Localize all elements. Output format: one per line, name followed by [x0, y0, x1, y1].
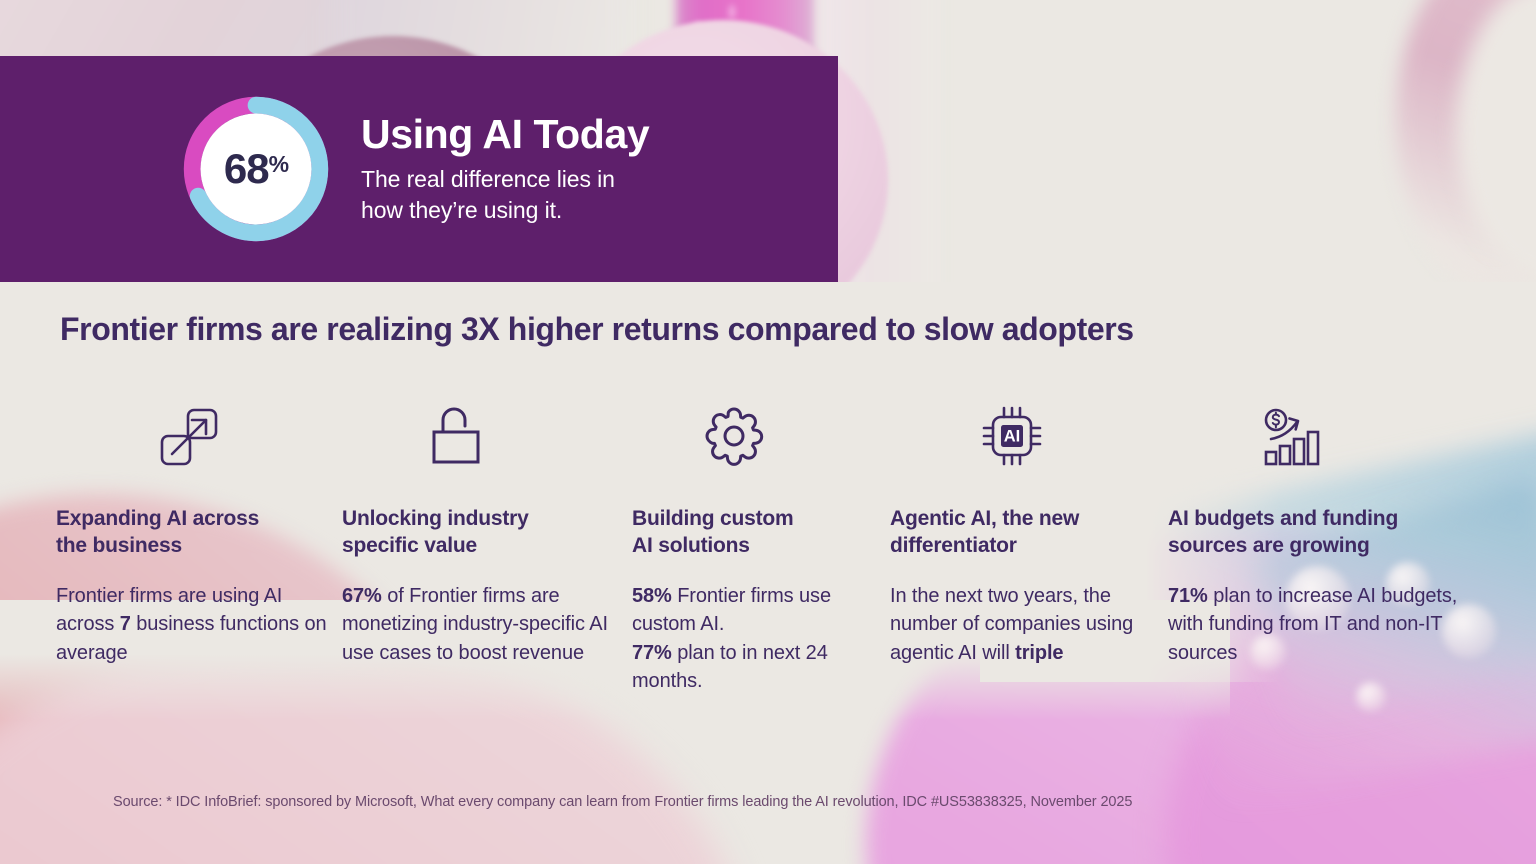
stat-column-title: Unlocking industry specific value: [342, 506, 632, 560]
svg-text:AI: AI: [1004, 428, 1021, 446]
banner-subtitle: The real difference lies in how they’re …: [361, 164, 649, 226]
source-footnote: Source: * IDC InfoBrief: sponsored by Mi…: [113, 794, 1132, 810]
stat-columns: Expanding AI across the business Frontie…: [56, 392, 1488, 695]
stat-column-expanding-ai: Expanding AI across the business Frontie…: [56, 392, 342, 667]
growth-chart-dollar-icon: [1168, 392, 1488, 468]
stat-column-title: Agentic AI, the new differentiator: [890, 506, 1168, 560]
stat-column-ai-budgets: AI budgets and funding sources are growi…: [1168, 392, 1488, 667]
stat-column-unlocking-value: Unlocking industry specific value 67% of…: [342, 392, 632, 667]
page-headline: Frontier firms are realizing 3X higher r…: [60, 311, 1134, 348]
stat-column-title: Expanding AI across the business: [56, 506, 342, 560]
open-padlock-icon: [342, 392, 632, 468]
banner-title: Using AI Today: [361, 112, 649, 156]
stat-column-title: Building custom AI solutions: [632, 506, 890, 560]
ai-chip-icon: AI: [890, 392, 1168, 468]
stat-column-body: 58% Frontier firms use custom AI.77% pla…: [632, 582, 890, 696]
donut-label: 68 %: [180, 93, 332, 245]
stat-column-body: 67% of Frontier firms are monetizing ind…: [342, 582, 632, 667]
hero-banner: 68 % Using AI Today The real difference …: [0, 56, 838, 282]
gear-icon: [632, 392, 890, 468]
stat-column-body: Frontier firms are using AI across 7 bus…: [56, 582, 342, 667]
banner-text-block: Using AI Today The real difference lies …: [361, 112, 649, 226]
stat-column-title: AI budgets and funding sources are growi…: [1168, 506, 1488, 560]
donut-percent-symbol: %: [269, 153, 288, 176]
donut-chart: 68 %: [180, 93, 332, 245]
expand-arrow-icon: [56, 392, 342, 468]
donut-value: 68: [224, 148, 269, 190]
stat-column-custom-ai: Building custom AI solutions 58% Frontie…: [632, 392, 890, 695]
stat-column-body: 71% plan to increase AI budgets, with fu…: [1168, 582, 1488, 667]
stat-column-agentic-ai: AI Agentic AI, the new differentiator In…: [890, 392, 1168, 667]
stat-column-body: In the next two years, the number of com…: [890, 582, 1168, 667]
